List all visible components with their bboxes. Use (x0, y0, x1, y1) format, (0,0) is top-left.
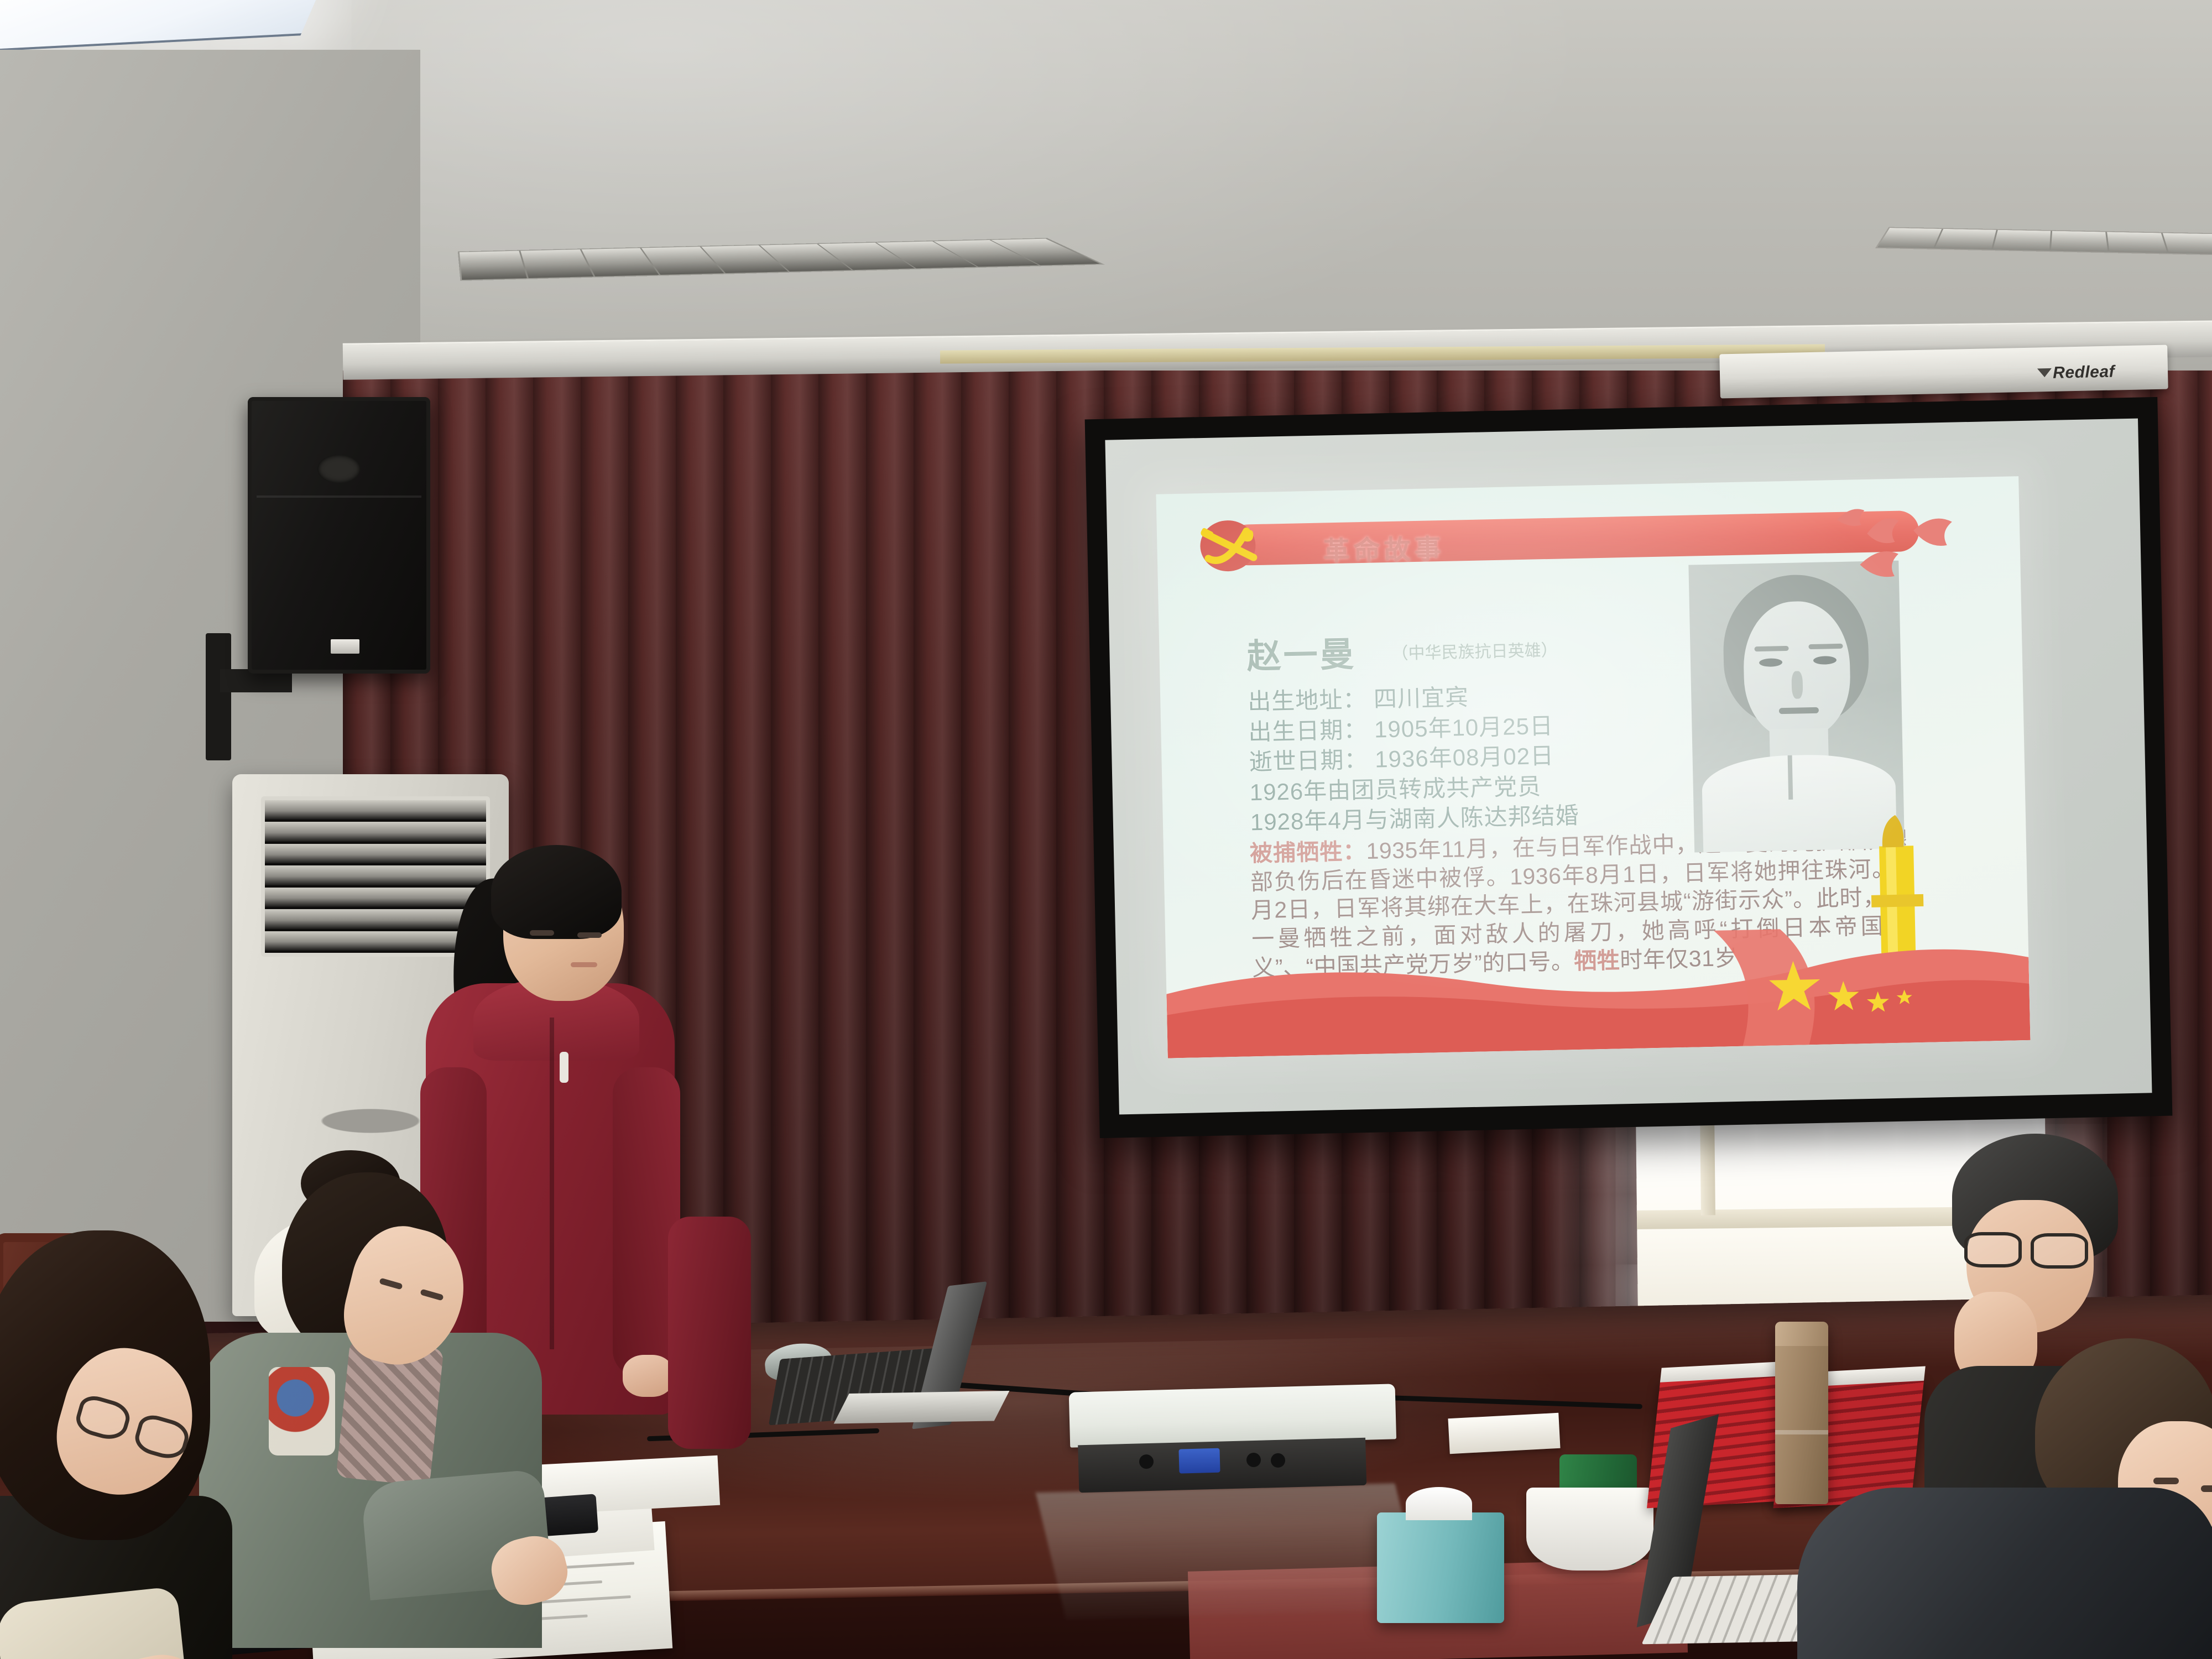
flying-doves-icon (1832, 497, 1978, 599)
historical-portrait-zhao-yiman (1688, 561, 1905, 853)
attendee-eye-left (2153, 1478, 2179, 1484)
slide-person-epithet: （中华民族抗日英雄） (1391, 637, 1558, 664)
tissue-sheet (1406, 1487, 1472, 1520)
portrait-face (1743, 601, 1851, 740)
portrait-brow-left (1754, 646, 1788, 651)
presenter-laptop[interactable] (906, 1287, 1046, 1428)
projection-screen-housing: Redleaf (1719, 345, 2168, 399)
projection-screen: 革命故事 赵一曼 （中华民族抗日英雄） 出生地址： 四川宜宾 出生日期： 190… (1085, 397, 2173, 1138)
slide-person-name: 赵一曼 (1246, 626, 1357, 678)
attendee-sleeve-background (668, 1217, 751, 1449)
speaker-tweeter (317, 455, 361, 483)
tissue-box[interactable] (1377, 1512, 1504, 1623)
photo-scene: Redleaf 革命故事 赵一曼 （中华民族抗日英雄） (0, 0, 2212, 1659)
projector-body-base (1078, 1438, 1366, 1493)
portrait-brow-right (1808, 644, 1843, 649)
portrait-nose (1791, 671, 1803, 698)
presenter-hair (491, 845, 622, 939)
presenter-drawstring (560, 1052, 568, 1083)
portrait-mouth (1779, 707, 1819, 714)
thermos-cap (1775, 1322, 1828, 1346)
presenter-zipper (550, 1018, 554, 1349)
air-conditioner-brand-logo (310, 1106, 431, 1136)
slide-title: 革命故事 (1323, 527, 1445, 568)
handout-papers[interactable] (1448, 1413, 1560, 1454)
presenter-eye-right (577, 932, 602, 938)
presenter-eye-left (530, 930, 554, 936)
window-mullion-vertical (1700, 1121, 1715, 1215)
video-projector[interactable] (1069, 1384, 1398, 1494)
speaker-bracket (206, 633, 231, 760)
speaker-badge (331, 639, 359, 654)
seated-attendee-glasses-front (0, 1208, 321, 1659)
foreground-attendee-shoulder (1797, 1488, 2212, 1659)
five-pointed-stars-icon (1768, 954, 1936, 1019)
vga-cable-blue (1178, 1448, 1220, 1474)
laptop-base (834, 1391, 1010, 1424)
slide-paragraph-label: 被捕牺牲： (1250, 838, 1366, 866)
projection-screen-surface: 革命故事 赵一曼 （中华民族抗日英雄） 出生地址： 四川宜宾 出生日期： 190… (1105, 419, 2152, 1115)
wall-mounted-loudspeaker (248, 397, 430, 674)
attendee-eye-right (2201, 1485, 2212, 1492)
presenter-hand (623, 1355, 674, 1397)
presentation-slide: 革命故事 赵一曼 （中华民族抗日英雄） 出生地址： 四川宜宾 出生日期： 190… (1156, 476, 2030, 1058)
triangle-mark-icon (2037, 368, 2052, 378)
screen-brand-label: Redleaf (2053, 363, 2115, 383)
cpc-party-emblem-icon (1193, 514, 1267, 578)
portrait-collar (1788, 755, 1793, 800)
speaker-seam (257, 495, 421, 498)
eyeglasses-icon (1964, 1232, 2097, 1272)
projector-light-beam (1036, 1483, 1426, 1619)
presenter-mouth (571, 962, 597, 967)
